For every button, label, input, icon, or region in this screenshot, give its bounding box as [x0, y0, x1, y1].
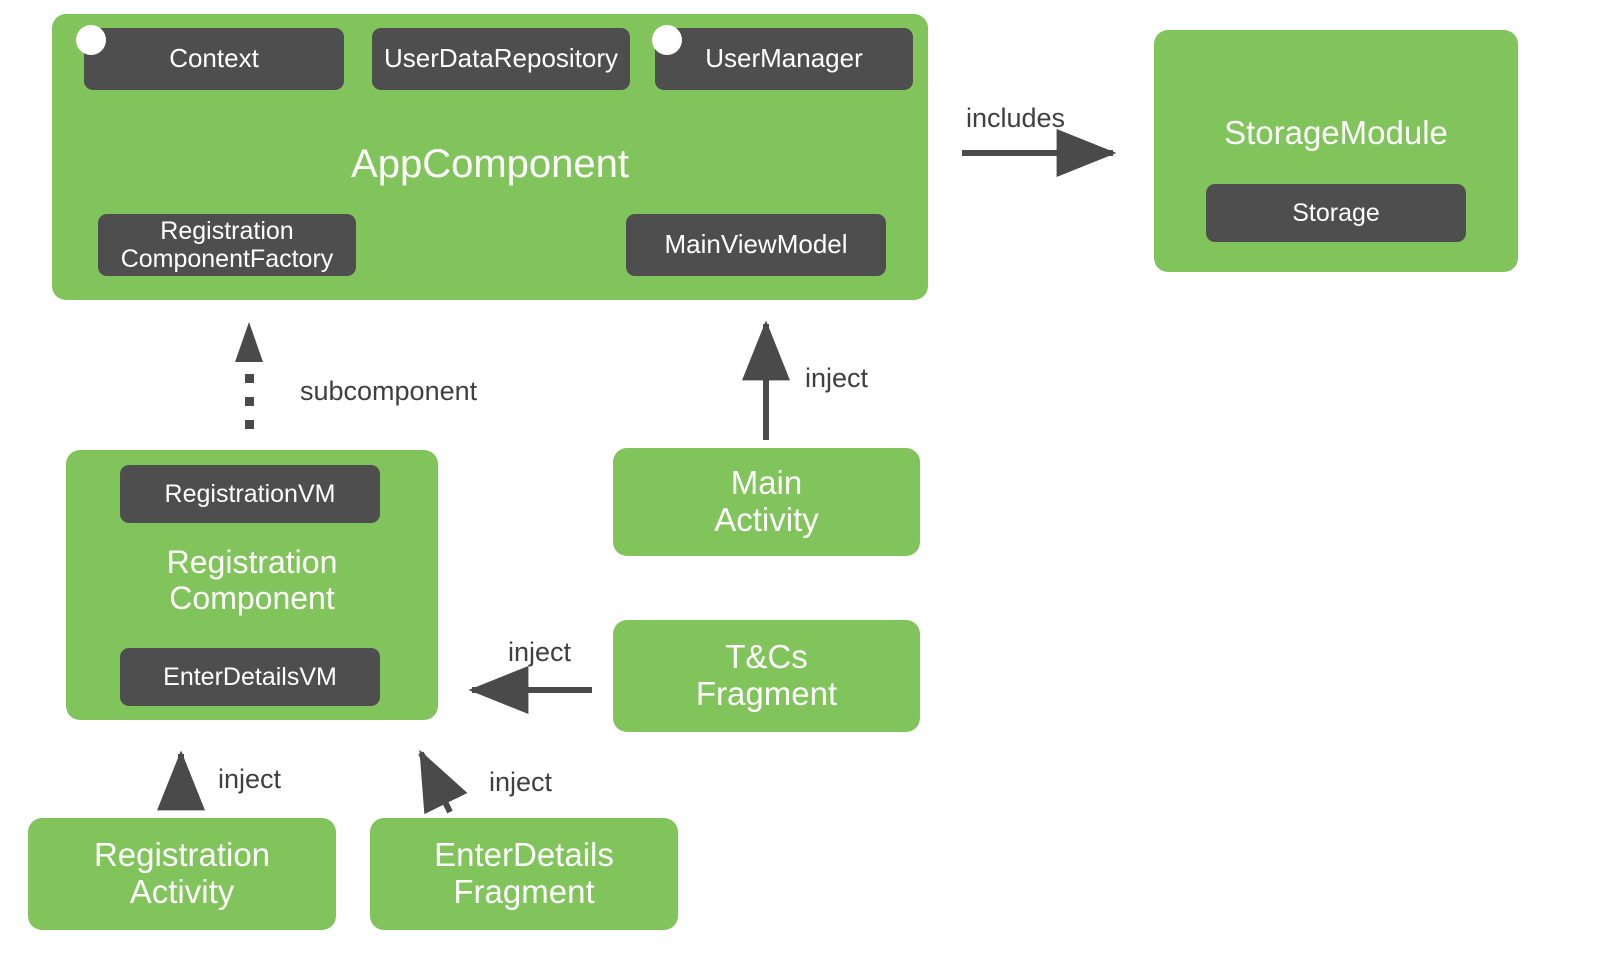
node-main-activity[interactable]: Main Activity — [613, 448, 920, 556]
binding-storage-label: Storage — [1292, 199, 1380, 227]
binding-registrationvm[interactable]: RegistrationVM — [120, 465, 380, 523]
binding-mainviewmodel[interactable]: MainViewModel — [626, 214, 886, 276]
binding-context-label: Context — [169, 44, 259, 73]
entry-point-dot-usermanager — [652, 25, 682, 55]
edge-label-includes: includes — [966, 103, 1065, 134]
binding-enterdetailsvm[interactable]: EnterDetailsVM — [120, 648, 380, 706]
entry-point-dot-context — [76, 25, 106, 55]
binding-userdatarepository-label: UserDataRepository — [384, 44, 618, 73]
edge-inject-enterdetails-fragment — [421, 753, 450, 812]
binding-userdatarepository[interactable]: UserDataRepository — [372, 28, 630, 90]
edge-label-inject-main: inject — [805, 363, 868, 394]
node-enterdetails-fragment[interactable]: EnterDetails Fragment — [370, 818, 678, 930]
node-main-activity-label: Main Activity — [714, 465, 819, 539]
diagram-canvas: AppComponent Context UserDataRepository … — [0, 0, 1600, 962]
binding-registrationcomponentfactory-label: Registration ComponentFactory — [121, 217, 334, 273]
binding-mainviewmodel-label: MainViewModel — [664, 230, 847, 259]
node-tcs-fragment-label: T&Cs Fragment — [696, 639, 837, 713]
binding-registrationvm-label: RegistrationVM — [165, 480, 336, 508]
node-tcs-fragment[interactable]: T&Cs Fragment — [613, 620, 920, 732]
binding-registrationcomponentfactory[interactable]: Registration ComponentFactory — [98, 214, 356, 276]
binding-usermanager-label: UserManager — [705, 44, 863, 73]
app-component-label: AppComponent — [52, 142, 928, 187]
binding-usermanager[interactable]: UserManager — [655, 28, 913, 90]
edge-label-inject-enterdetails: inject — [489, 767, 552, 798]
binding-enterdetailsvm-label: EnterDetailsVM — [163, 663, 337, 691]
node-registration-activity-label: Registration Activity — [94, 837, 270, 911]
node-registration-activity[interactable]: Registration Activity — [28, 818, 336, 930]
edge-label-inject-registration: inject — [218, 764, 281, 795]
edge-label-subcomponent: subcomponent — [300, 376, 477, 407]
registration-component-label: Registration Component — [66, 545, 438, 617]
edge-subcomponent — [235, 322, 263, 429]
storage-module-label: StorageModule — [1154, 115, 1518, 152]
binding-storage[interactable]: Storage — [1206, 184, 1466, 242]
node-enterdetails-fragment-label: EnterDetails Fragment — [434, 837, 614, 911]
binding-context[interactable]: Context — [84, 28, 344, 90]
edge-label-inject-tcs: inject — [508, 637, 571, 668]
